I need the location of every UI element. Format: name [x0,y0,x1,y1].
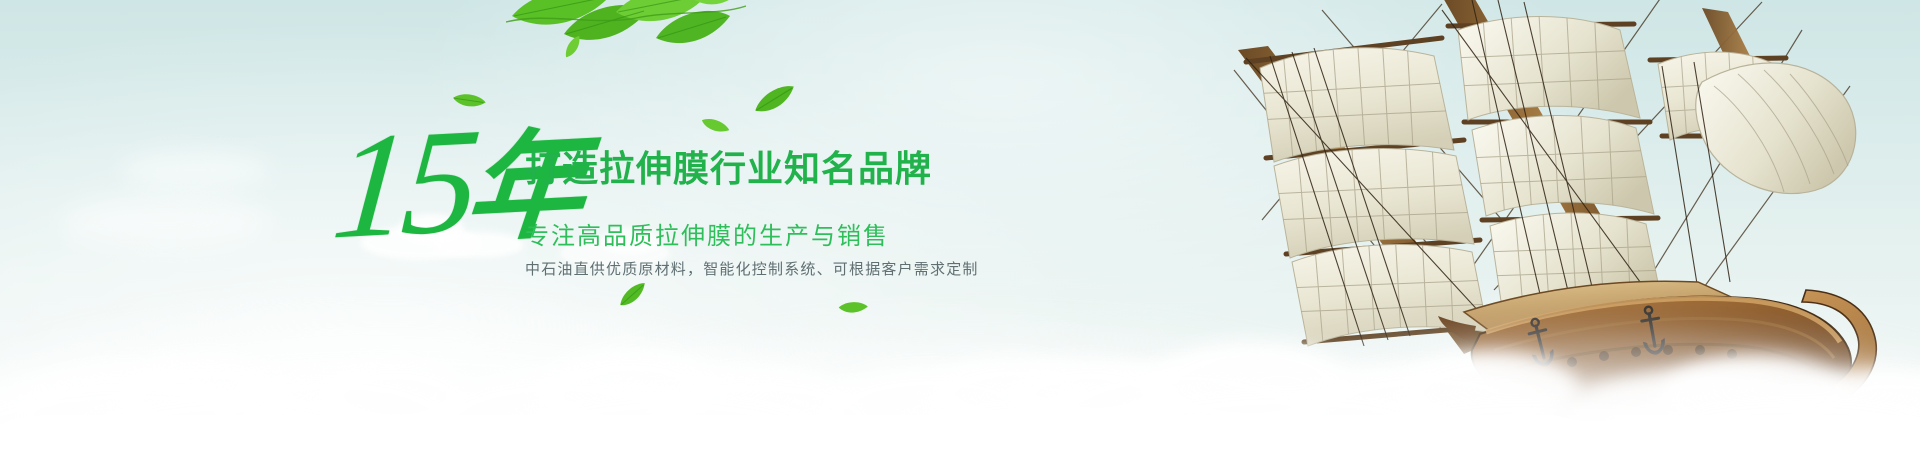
banner-headline: 打造拉伸膜行业知名品牌 [525,140,932,192]
banner-subheadline: 专注高品质拉伸膜的生产与销售 [525,216,889,251]
sailing-ship-illustration [1142,0,1902,470]
sky-gradient-overlay [0,0,1920,475]
hero-banner: 15年 打造拉伸膜行业知名品牌 专注高品质拉伸膜的生产与销售 中石油直供优质原材… [0,0,1920,475]
leaf-branch-top [506,0,746,72]
leaf-single-5 [837,297,870,320]
banner-tagline: 中石油直供优质原材料，智能化控制系统、可根据客户需求定制 [525,258,979,279]
cloud-bank [0,215,1920,475]
banner-copy: 15年 打造拉伸膜行业知名品牌 专注高品质拉伸膜的生产与销售 中石油直供优质原材… [335,104,955,294]
years-number: 15 [327,97,480,270]
